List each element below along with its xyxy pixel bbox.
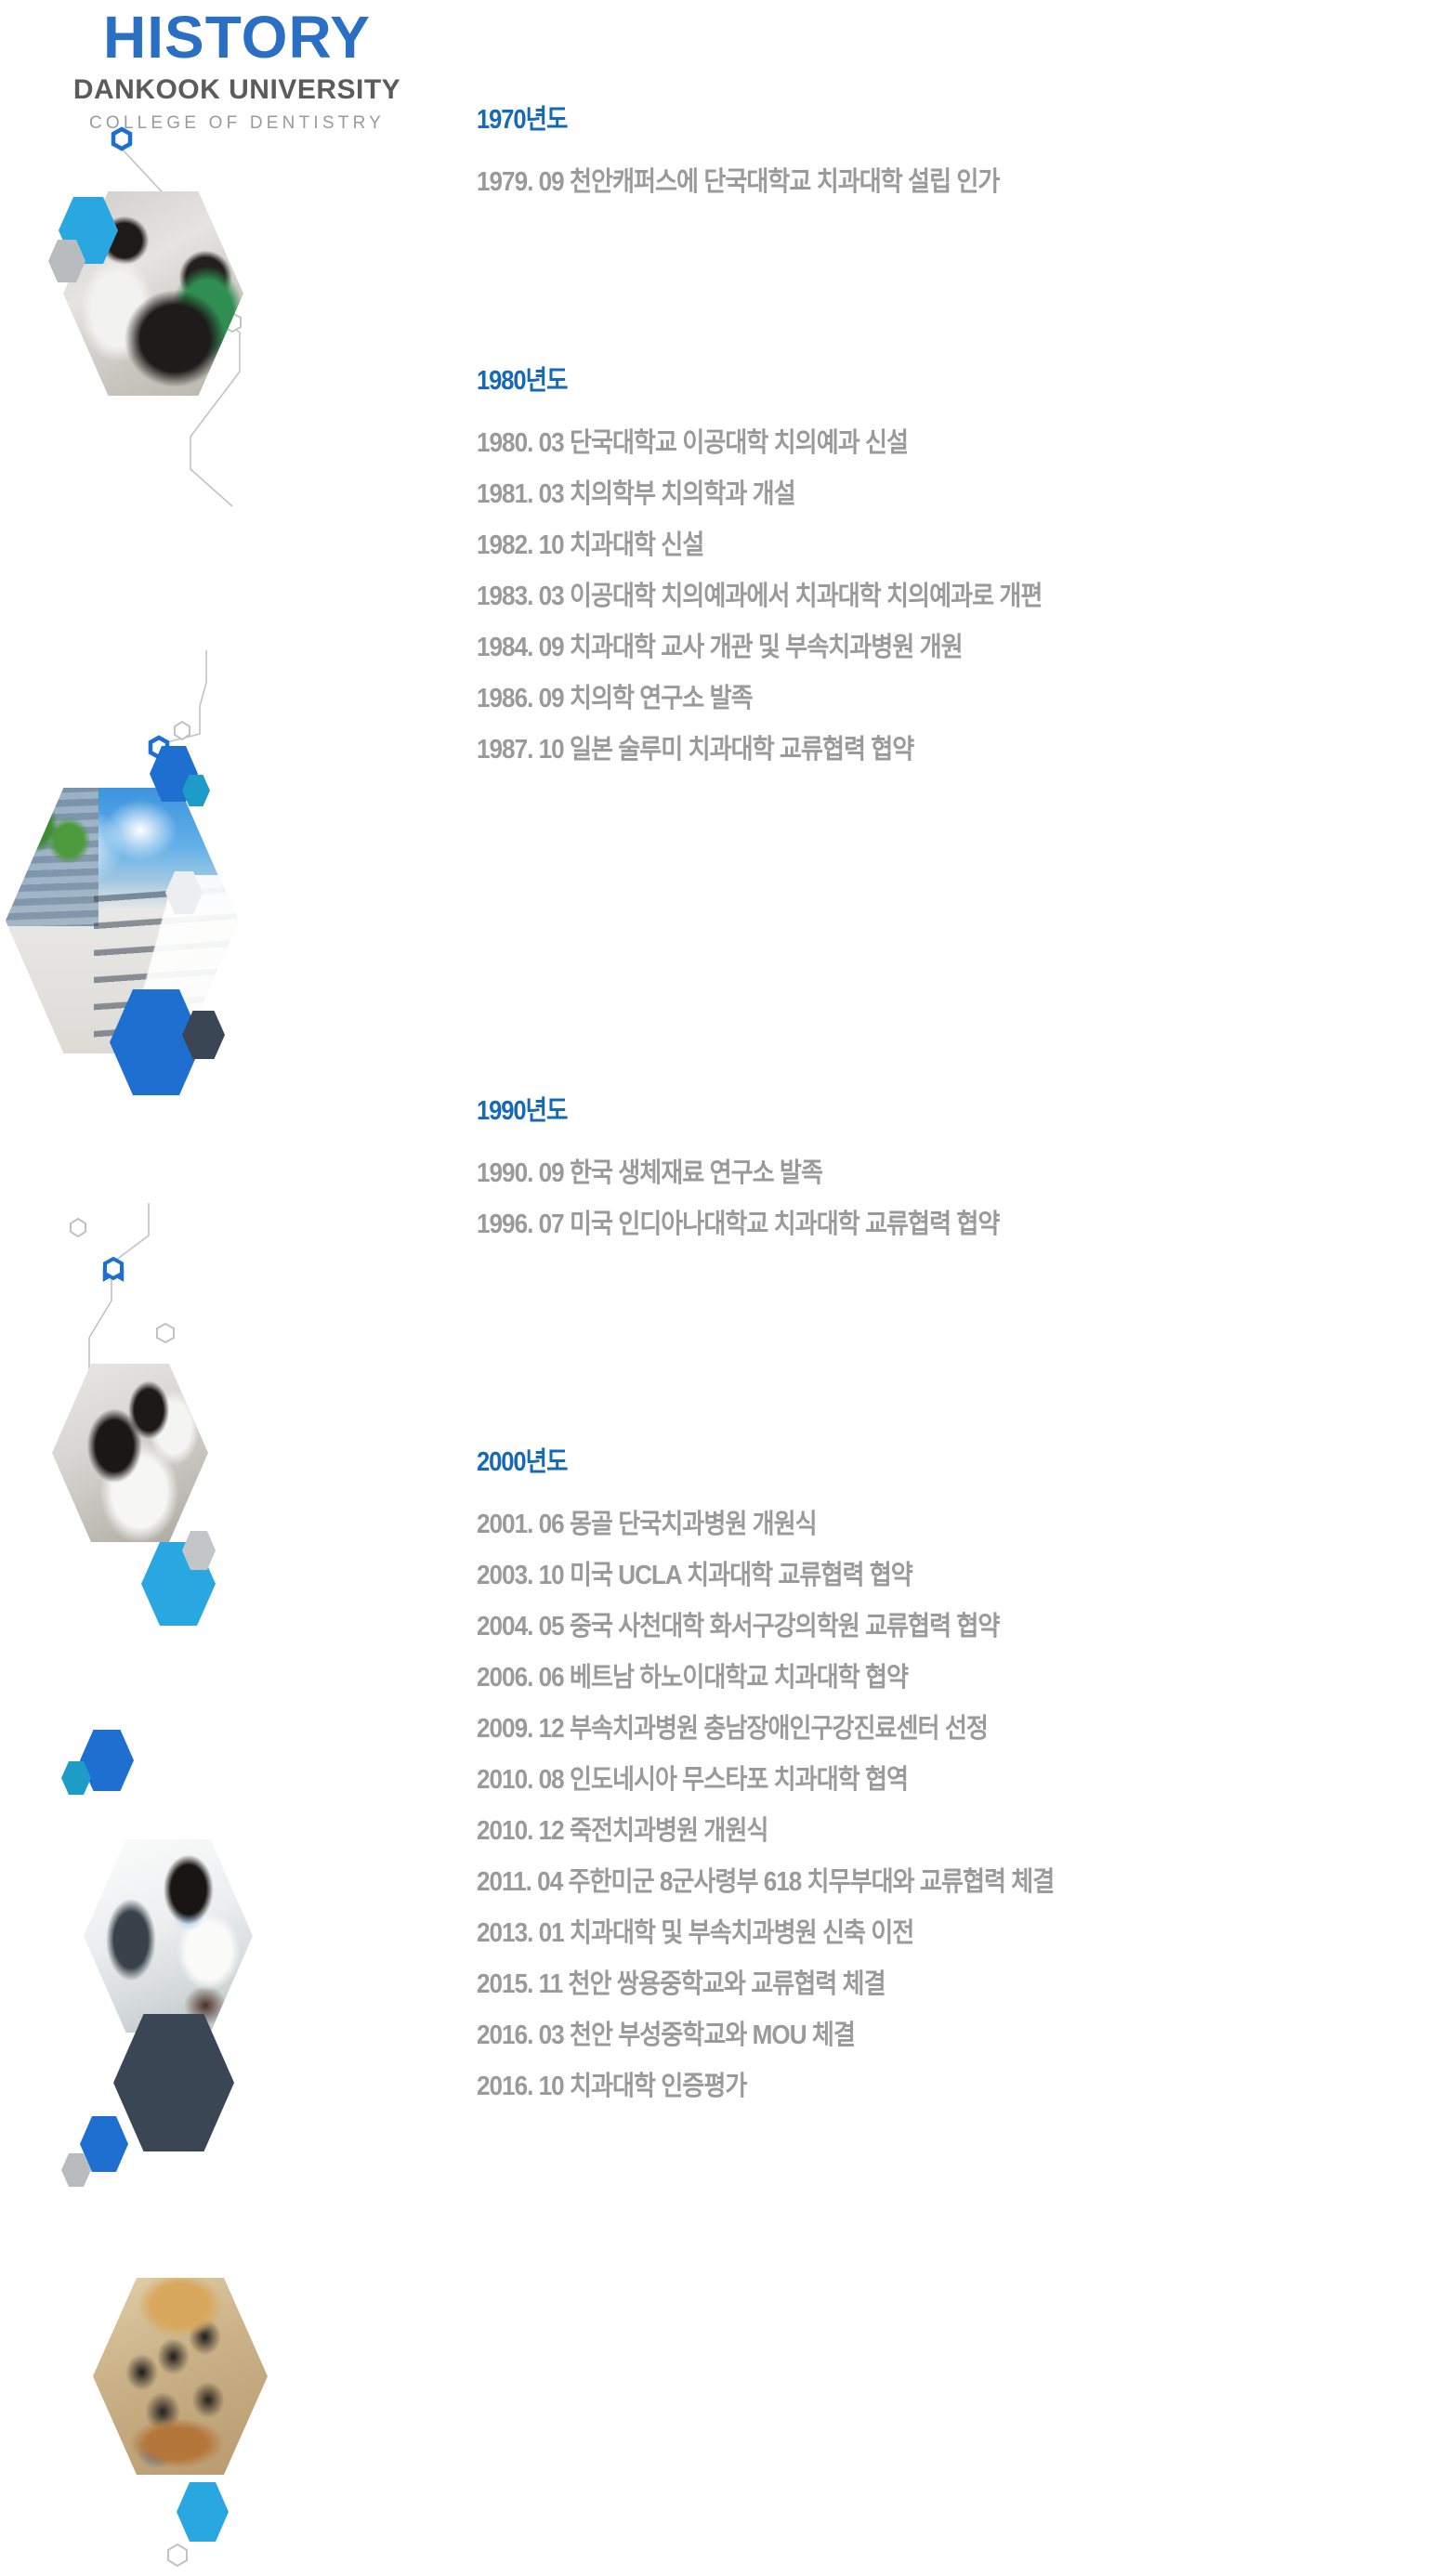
timeline-entry: 1981. 03 치의학부 치의학과 개설 (477, 481, 1042, 508)
timeline-decoration-column (0, 0, 465, 2576)
dental-chair-photo (84, 1839, 253, 2033)
decade-title-2000: 2000년도 (477, 1449, 1042, 1476)
decade-title-1980: 1980년도 (477, 368, 1030, 395)
timeline-entry: 1982. 10 치과대학 신설 (477, 532, 1042, 559)
timeline-entry: 2009. 12 부속치과병원 충남장애인구강진료센터 선정 (477, 1716, 1054, 1743)
timeline-entry: 1986. 09 치의학 연구소 발족 (477, 686, 1042, 713)
decade-block-1970: 1970년도 1979. 09 천안캐퍼스에 단국대학교 치과대학 설립 인가 (477, 107, 1057, 196)
timeline-entry: 2003. 10 미국 UCLA 치과대학 교류협력 협약 (477, 1563, 1054, 1589)
timeline-entry: 2001. 06 몽골 단국치과병원 개원식 (477, 1511, 1054, 1538)
timeline-entry: 1990. 09 한국 생체재료 연구소 발족 (477, 1160, 999, 1187)
lecture-hall-photo (93, 2278, 268, 2475)
decade-block-1990: 1990년도 1990. 09 한국 생체재료 연구소 발족 1996. 07 … (477, 1098, 1057, 1238)
laboratory-practice-photo (52, 1364, 208, 1542)
timeline-entry: 2006. 06 베트남 하노이대학교 치과대학 협약 (477, 1665, 1054, 1692)
timeline-entry: 2004. 05 중국 사천대학 화서구강의학원 교류협력 협약 (477, 1614, 1054, 1641)
timeline-entry: 1983. 03 이공대학 치의예과에서 치과대학 치의예과로 개편 (477, 583, 1042, 610)
timeline-entry: 1979. 09 천안캐퍼스에 단국대학교 치과대학 설립 인가 (477, 169, 999, 196)
timeline-entry: 1996. 07 미국 인디아나대학교 치과대학 교류협력 협약 (477, 1211, 999, 1238)
timeline-entry: 2016. 03 천안 부성중학교와 MOU 체결 (477, 2022, 1054, 2049)
timeline-entry: 2013. 01 치과대학 및 부속치과병원 신축 이전 (477, 1920, 1054, 1947)
decade-title-1990: 1990년도 (477, 1098, 988, 1125)
decade-title-1970: 1970년도 (477, 107, 988, 134)
decade-block-1980: 1980년도 1980. 03 단국대학교 이공대학 치의예과 신설 1981.… (477, 368, 1105, 764)
timeline-entry: 2010. 12 죽전치과병원 개원식 (477, 1818, 1054, 1845)
timeline-entry: 1980. 03 단국대학교 이공대학 치의예과 신설 (477, 430, 1042, 457)
decade-block-2000: 2000년도 2001. 06 몽골 단국치과병원 개원식 2003. 10 미… (477, 1449, 1118, 2100)
timeline-entry: 2011. 04 주한미군 8군사령부 618 치무부대와 교류협력 체결 (477, 1869, 1054, 1896)
timeline-entry: 2016. 10 치과대학 인증평가 (477, 2073, 1054, 2100)
timeline-entry: 1987. 10 일본 술루미 치과대학 교류협력 협약 (477, 737, 1042, 764)
timeline-entry: 2010. 08 인도네시아 무스타포 치과대학 협역 (477, 1767, 1054, 1794)
timeline-entry: 1984. 09 치과대학 교사 개관 및 부속치과병원 개원 (477, 634, 1042, 661)
timeline-entry: 2015. 11 천안 쌍용중학교와 교류협력 체결 (477, 1971, 1054, 1998)
